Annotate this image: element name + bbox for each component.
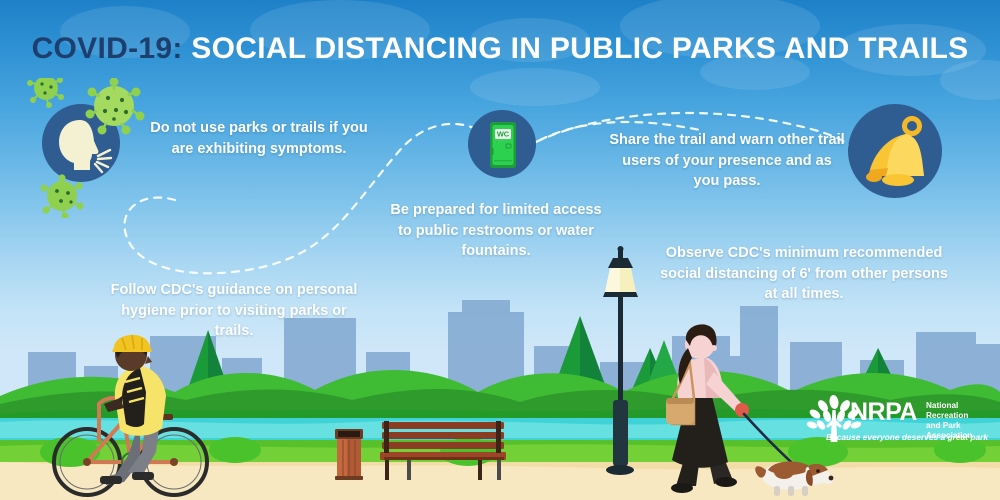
logo-subtitle-line1: National Recreation [926,401,994,421]
nrpa-logo: NRPA National Recreation and Park Associ… [800,392,994,454]
trash-can [335,429,363,480]
logo-tagline: Because everyone deserves a great park [826,432,988,442]
logo-wordmark: NRPA [850,398,917,427]
leash-handle [735,403,749,417]
infographic-poster: COVID-19: SOCIAL DISTANCING IN PUBLIC PA… [0,0,1000,500]
